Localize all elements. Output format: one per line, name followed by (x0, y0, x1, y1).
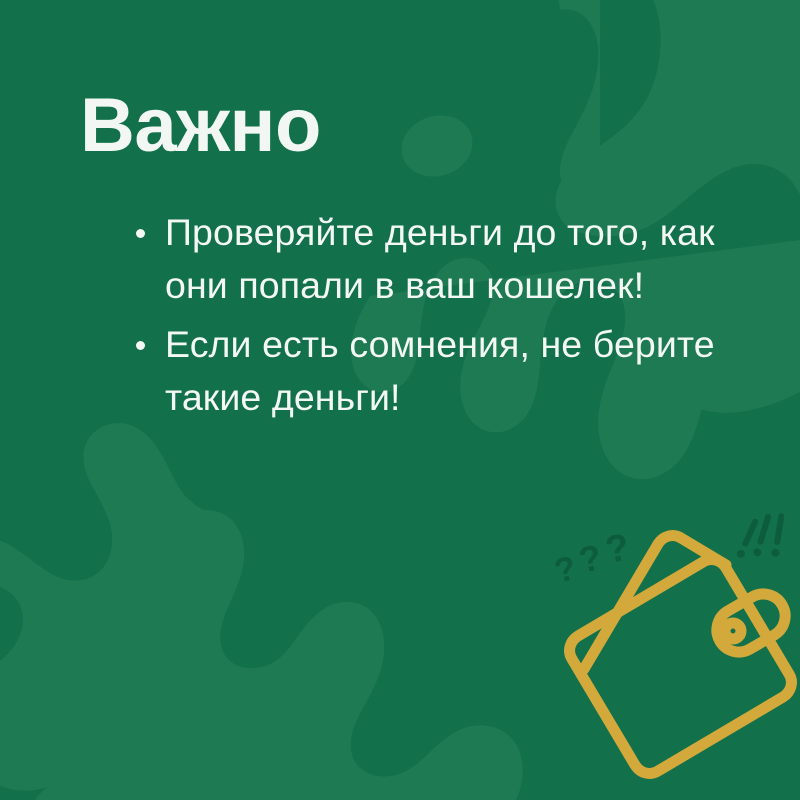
bullet-dot-icon (136, 341, 145, 350)
exclamation-mark-icon (741, 518, 759, 548)
question-mark-icon: ? (602, 526, 632, 571)
question-mark-icon: ? (575, 536, 605, 581)
exclamation-marks-group (736, 513, 786, 559)
bullet-dot-icon (136, 229, 145, 238)
exclamation-mark-icon (774, 513, 785, 546)
list-item-label: Если есть сомнения, не берите такие день… (165, 318, 768, 424)
list-item-label: Проверяйте деньги до того, как они попал… (165, 206, 768, 312)
page-title: Важно (80, 88, 321, 164)
wallet-with-card-illustration: ? ? ? (540, 505, 800, 800)
wallet-clasp (709, 586, 793, 660)
info-card: Важно Проверяйте деньги до того, как они… (0, 0, 800, 800)
question-marks-group: ? ? ? (551, 526, 633, 590)
list-item: Если есть сомнения, не берите такие день… (128, 318, 768, 424)
list-item: Проверяйте деньги до того, как они попал… (128, 206, 768, 312)
bullet-list: Проверяйте деньги до того, как они попал… (128, 206, 768, 430)
exclamation-dot-icon (752, 547, 762, 557)
wallet-clasp-dot (725, 623, 741, 639)
exclamation-mark-icon (757, 513, 772, 545)
exclamation-dot-icon (771, 548, 780, 557)
exclamation-dot-icon (736, 548, 747, 559)
question-mark-icon: ? (551, 549, 580, 591)
